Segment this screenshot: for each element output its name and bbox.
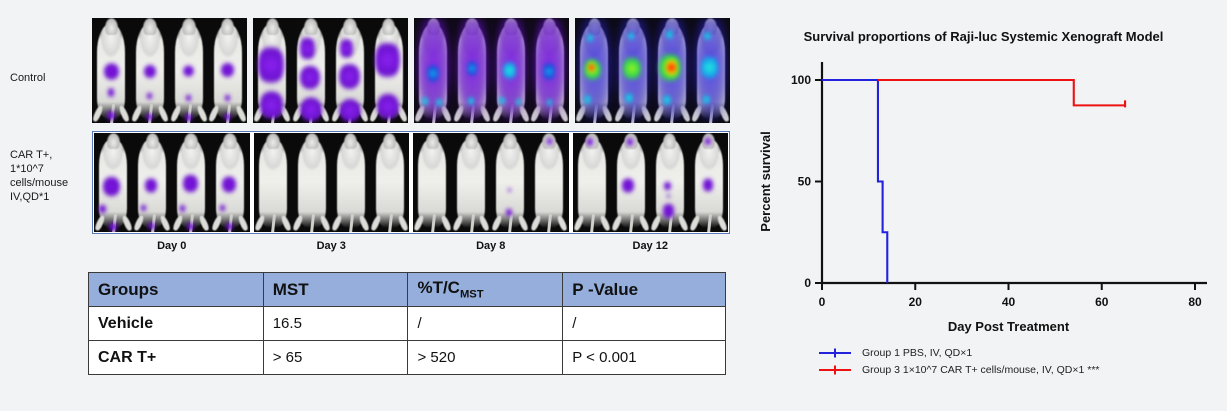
timepoint-labels: Day 0 Day 3 Day 8 Day 12 [92,240,730,252]
column-header-tc-mst: %T/CMST [408,273,563,307]
lumi-panel-cart-day3[interactable] [254,133,410,232]
survival-chart-pane: Survival proportions of Raji-luc Systemi… [740,0,1227,411]
cell-mst: 16.5 [263,307,408,341]
timepoint-label-2: Day 8 [411,240,571,252]
legend-item-group-3[interactable]: Group 3 1×10^7 CAR T+ cells/mouse, IV, Q… [818,361,1218,378]
imaging-row-car-t [92,131,730,234]
svg-text:60: 60 [1095,295,1109,309]
survival-curve-group-3 [878,80,1125,105]
lumi-panel-control-day12[interactable] [575,18,730,123]
lumi-panel-control-day8[interactable] [414,18,569,123]
svg-text:100: 100 [791,73,811,87]
table-header-row: Groups MST %T/CMST P -Value [89,273,726,307]
timepoint-label-0: Day 0 [92,240,252,252]
survival-plot: 050100 020406080 Percent survival Day Po… [740,52,1227,342]
lumi-panel-cart-day12[interactable] [573,133,729,232]
lumi-panel-cart-day0[interactable] [94,133,250,232]
legend-marker-red [818,364,852,376]
svg-text:50: 50 [798,175,812,189]
lumi-panel-cart-day8[interactable] [413,133,569,232]
cell-p-value: P < 0.001 [563,341,726,375]
chart-title: Survival proportions of Raji-luc Systemi… [740,29,1227,44]
cell-group: CAR T+ [89,341,264,375]
table-row: Vehicle 16.5 / / [89,307,726,341]
lumi-panel-control-day0[interactable] [92,18,247,123]
cell-tc: / [408,307,563,341]
imaging-and-table-pane: Control CAR T+, 1*10^7 cells/mouse IV,QD… [0,0,740,411]
efficacy-summary-table: Groups MST %T/CMST P -Value Vehicle 16.5… [88,272,726,375]
chart-legend: Group 1 PBS, IV, QD×1 Group 3 1×10^7 CAR… [818,344,1218,378]
cell-p-value: / [563,307,726,341]
column-header-groups: Groups [89,273,264,307]
svg-text:0: 0 [819,295,826,309]
legend-marker-blue [818,347,852,359]
legend-label-group-3: Group 3 1×10^7 CAR T+ cells/mouse, IV, Q… [862,364,1100,376]
svg-text:20: 20 [909,295,923,309]
legend-item-group-1[interactable]: Group 1 PBS, IV, QD×1 [818,344,1218,361]
x-axis-label: Day Post Treatment [948,319,1070,334]
x-axis-ticks: 020406080 [819,283,1202,309]
table-row: CAR T+ > 65 > 520 P < 0.001 [89,341,726,375]
timepoint-label-3: Day 12 [571,240,731,252]
row-label-control: Control [10,71,90,85]
row-label-car-t: CAR T+, 1*10^7 cells/mouse IV,QD*1 [10,148,92,204]
column-header-tc-text: %T/C [417,278,460,297]
cell-tc: > 520 [408,341,563,375]
column-header-tc-subscript: MST [460,289,484,301]
cell-mst: > 65 [263,341,408,375]
y-axis-ticks: 050100 [791,73,822,290]
legend-label-group-1: Group 1 PBS, IV, QD×1 [862,347,972,359]
y-axis-label: Percent survival [758,131,773,231]
svg-text:40: 40 [1002,295,1016,309]
svg-text:0: 0 [804,276,811,290]
survival-curve-group-1 [822,80,887,283]
column-header-p-value: P -Value [563,273,726,307]
column-header-mst: MST [263,273,408,307]
svg-text:80: 80 [1188,295,1202,309]
imaging-row-control [92,18,730,123]
timepoint-label-1: Day 3 [252,240,412,252]
cell-group: Vehicle [89,307,264,341]
lumi-panel-control-day3[interactable] [253,18,408,123]
